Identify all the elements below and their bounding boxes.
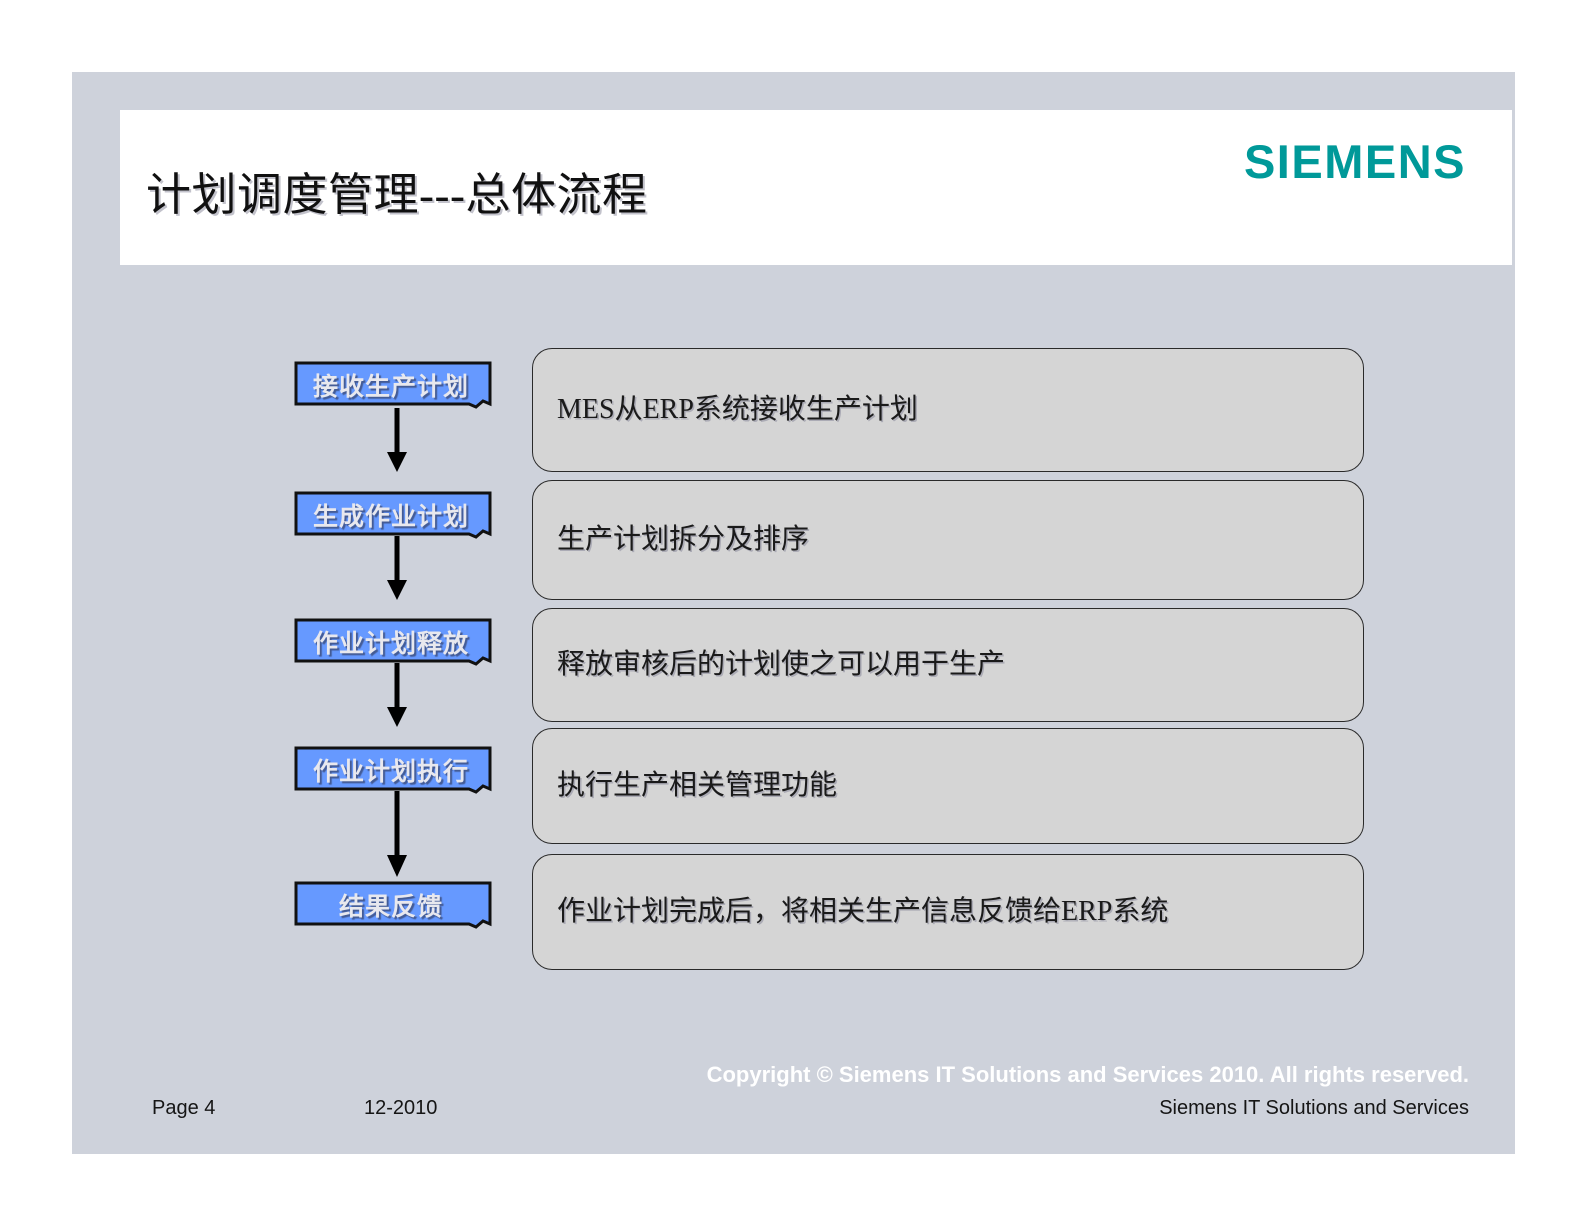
flow-step-box-3[interactable]: 作业计划释放: [292, 617, 490, 667]
flow-step-box-4[interactable]: 作业计划执行: [292, 745, 490, 795]
flow-desc-box-1: MES从ERP系统接收生产计划: [532, 348, 1364, 472]
flow-step-box-5[interactable]: 结果反馈: [292, 880, 490, 930]
flow-desc-text-1: MES从ERP系统接收生产计划: [557, 392, 918, 428]
flow-desc-box-5: 作业计划完成后，将相关生产信息反馈给ERP系统: [532, 854, 1364, 970]
footer-page-number: Page 4: [152, 1097, 215, 1120]
process-flow-diagram: 接收生产计划 MES从ERP系统接收生产计划 生成作业计划 生产计划拆分及排序: [72, 72, 1515, 1154]
flow-desc-box-2: 生产计划拆分及排序: [532, 480, 1364, 600]
flow-desc-box-4: 执行生产相关管理功能: [532, 728, 1364, 844]
flow-connector-arrow-2: [384, 536, 410, 602]
footer: Page 4 12-2010 Siemens IT Solutions and …: [72, 1097, 1515, 1131]
slide-canvas: 计划调度管理---总体流程 SIEMENS 接收生产计划 MES从ERP系统接收…: [72, 72, 1515, 1154]
flow-connector-arrow-4: [384, 791, 410, 879]
copyright-notice: Copyright © Siemens IT Solutions and Ser…: [72, 1062, 1469, 1088]
flow-desc-text-4: 执行生产相关管理功能: [557, 768, 837, 804]
footer-organization: Siemens IT Solutions and Services: [1159, 1097, 1469, 1120]
footer-date: 12-2010: [364, 1097, 437, 1120]
flow-step-box-1[interactable]: 接收生产计划: [292, 360, 490, 410]
flow-desc-text-2: 生产计划拆分及排序: [557, 522, 809, 558]
flow-connector-arrow-1: [384, 408, 410, 474]
flow-step-box-2[interactable]: 生成作业计划: [292, 490, 490, 540]
flow-desc-text-3: 释放审核后的计划使之可以用于生产: [557, 647, 1005, 683]
flow-desc-text-5: 作业计划完成后，将相关生产信息反馈给ERP系统: [557, 894, 1168, 930]
flow-desc-box-3: 释放审核后的计划使之可以用于生产: [532, 608, 1364, 722]
flow-connector-arrow-3: [384, 663, 410, 729]
